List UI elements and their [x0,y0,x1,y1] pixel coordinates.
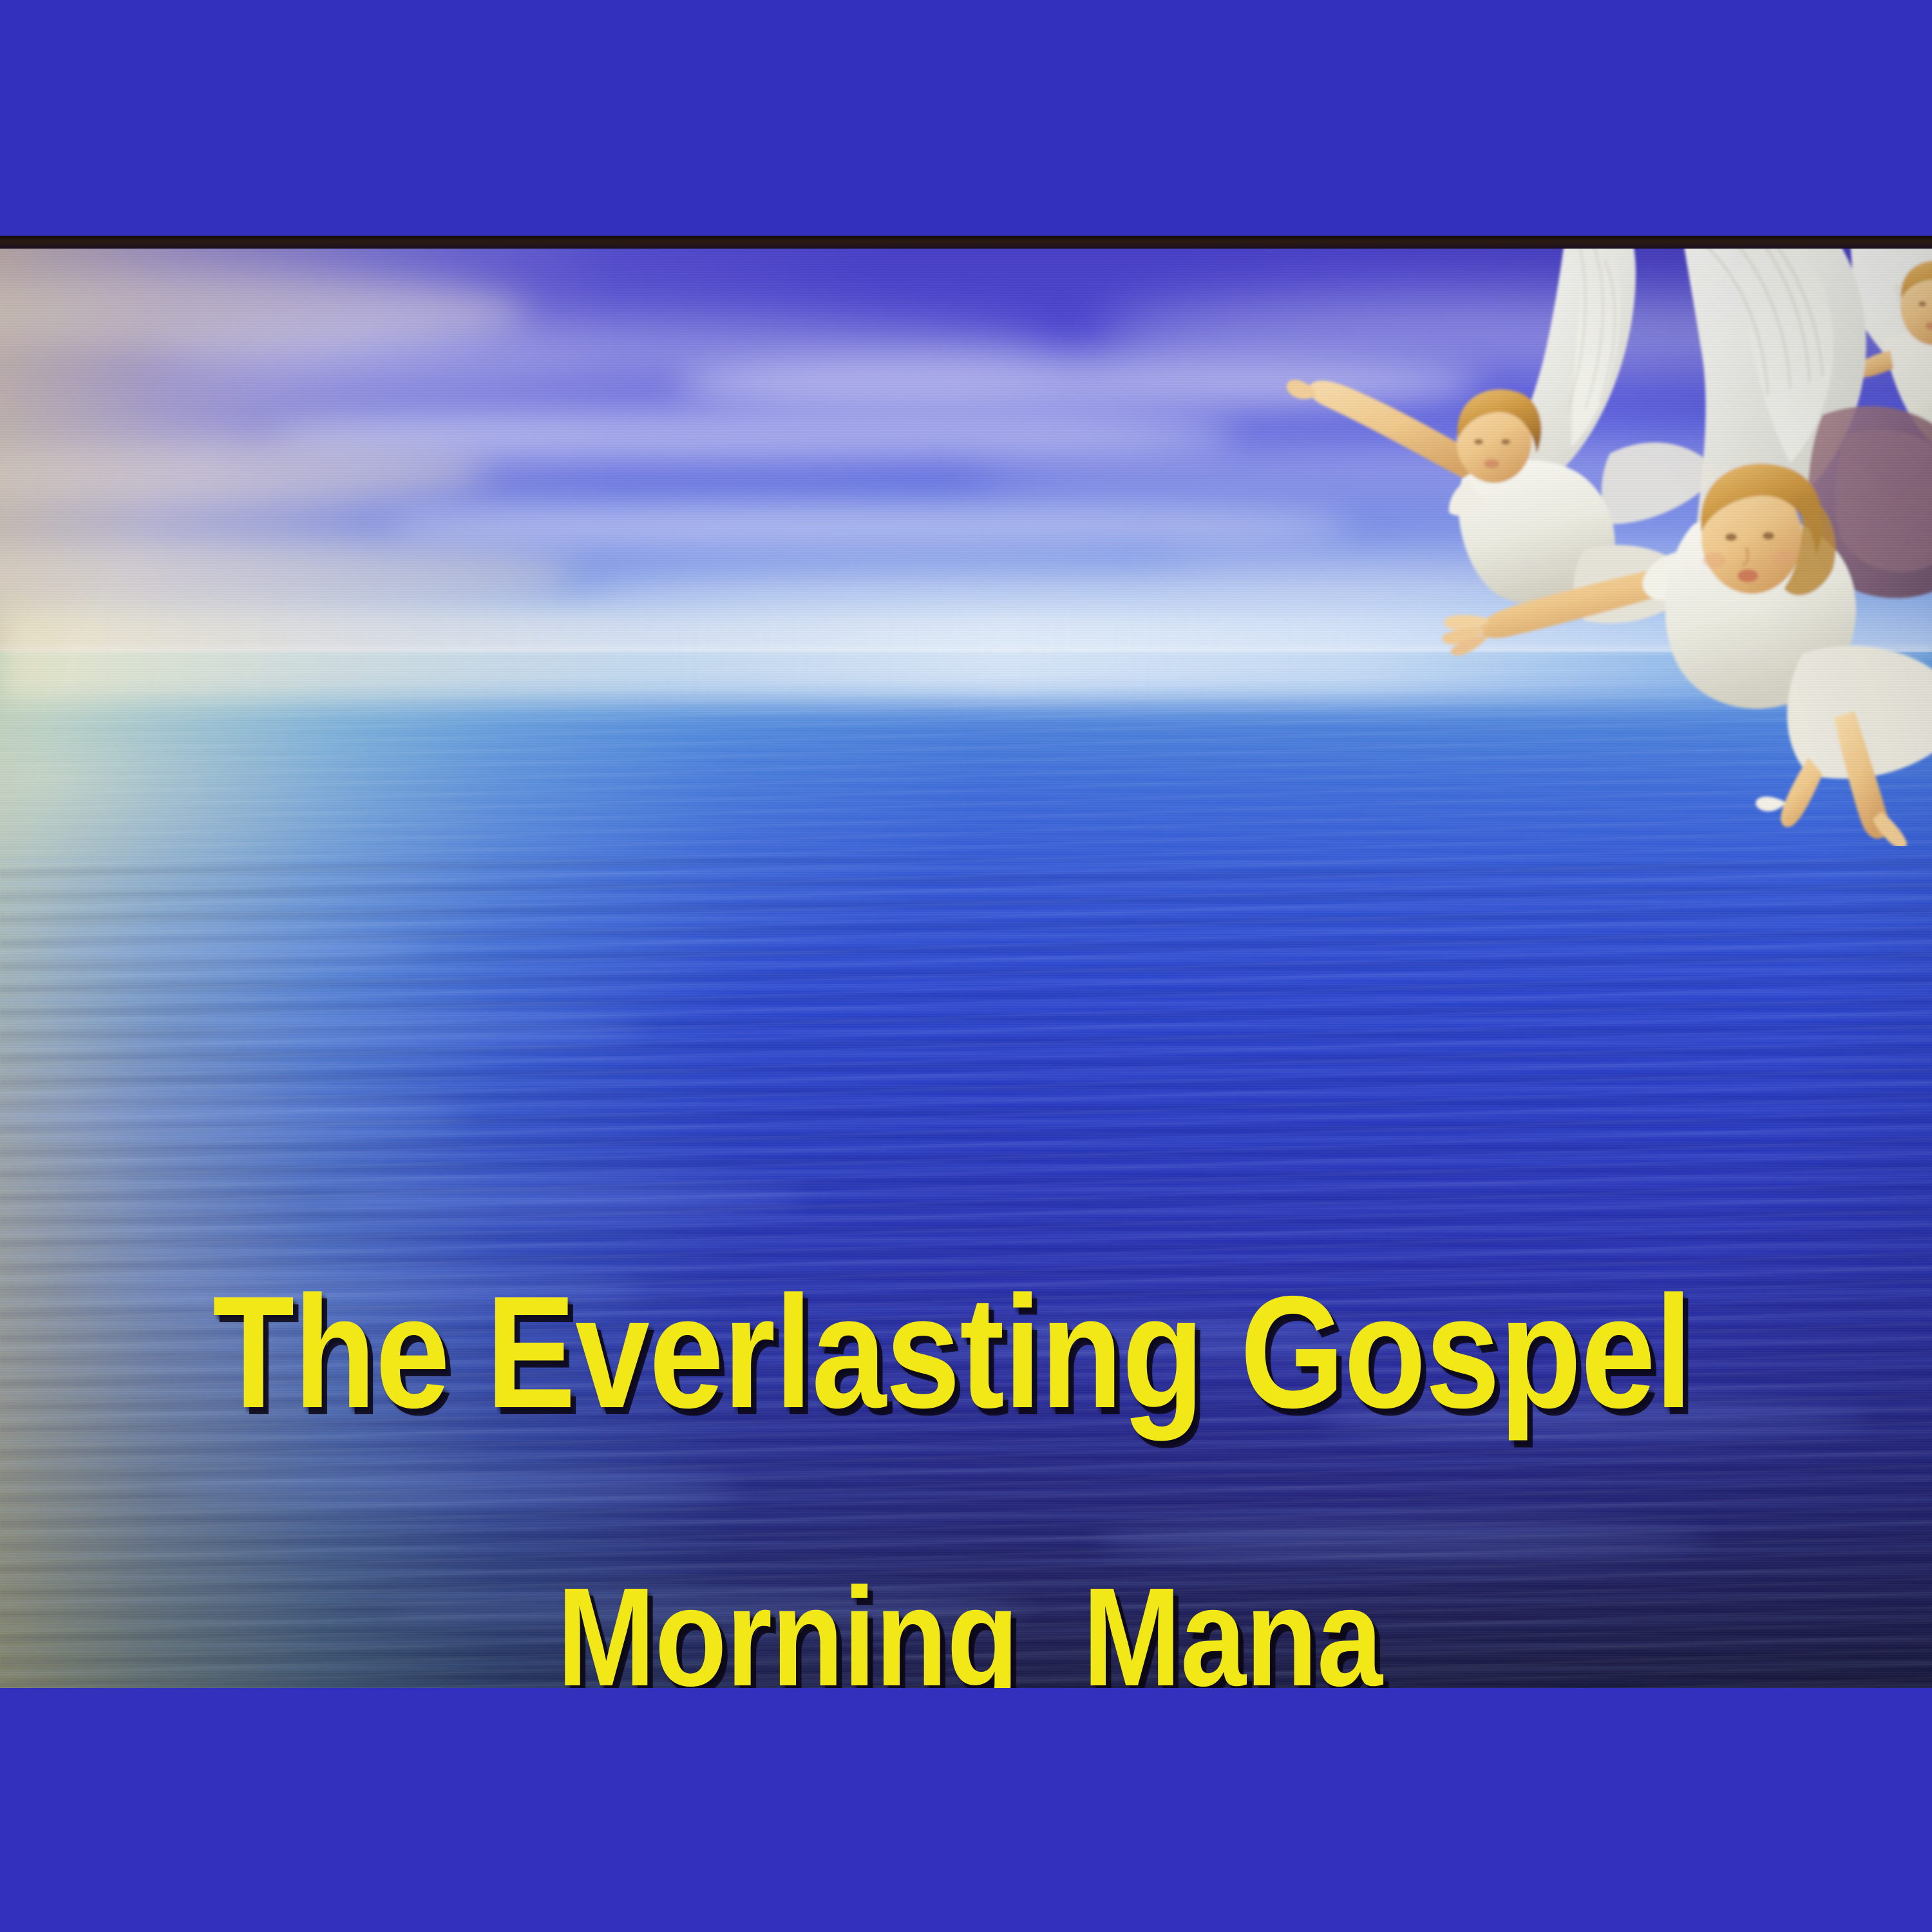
slide-canvas: The Everlasting Gospel Morning Mana [0,0,1932,1932]
seascape-photo: The Everlasting Gospel Morning Mana [0,247,1932,1688]
angels-group [1185,247,1932,846]
angel-left-hand [1287,380,1316,399]
wave-highlight [39,929,425,967]
photo-frame: The Everlasting Gospel Morning Mana [0,236,1932,1688]
angel-center-foot-2 [1756,797,1785,811]
angel-center-hand [1442,615,1489,656]
screen-bezel [0,236,1932,249]
wave-highlight [1095,1521,1707,1560]
page-title: The Everlasting Gospel [213,1272,1692,1432]
wave-highlight [193,1012,644,1048]
angel-center-leg-2 [1781,757,1823,827]
angels-illustration [1185,247,1932,846]
page-subtitle: Morning Mana [557,1567,1382,1688]
wave-highlight [322,1180,805,1217]
wave-highlight [161,1470,741,1507]
